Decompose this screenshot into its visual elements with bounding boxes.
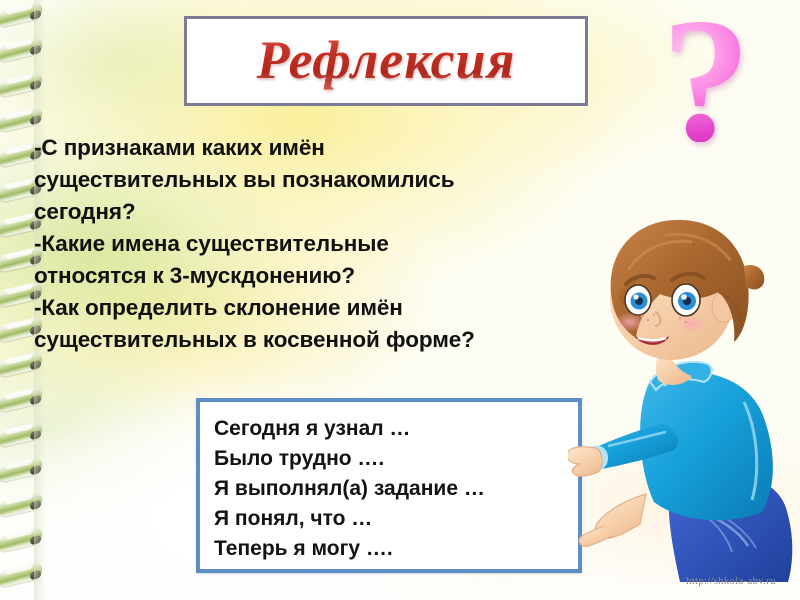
question-line: существительных в косвенной форме?: [34, 324, 582, 356]
slide-canvas: Рефлексия ? -С признаками каких имён сущ…: [0, 0, 800, 600]
questions-block: -С признаками каких имён существительных…: [34, 132, 582, 356]
sentence-starters-list: Сегодня я узнал … Было трудно …. Я выпол…: [200, 402, 578, 564]
title-box: Рефлексия: [184, 16, 588, 106]
list-item: Я понял, что …: [214, 504, 578, 534]
question-line: -Как определить склонение имён: [34, 292, 582, 324]
watermark: http://shkola-abv.ru: [686, 575, 776, 587]
list-item: Было трудно ….: [214, 444, 578, 474]
cartoon-boy-pointing: [568, 196, 800, 582]
question-mark-icon: ?: [640, 18, 772, 158]
question-line: существительных вы познакомились: [34, 164, 582, 196]
question-line: относятся к 3-мускдонению?: [34, 260, 582, 292]
question-line: сегодня?: [34, 196, 582, 228]
page-title: Рефлексия: [187, 29, 585, 91]
question-mark-glyph: ?: [640, 18, 772, 142]
question-line: -С признаками каких имён: [34, 132, 582, 164]
list-item: Я выполнял(а) задание …: [214, 474, 578, 504]
list-item: Теперь я могу ….: [214, 534, 578, 564]
question-line: -Какие имена существительные: [34, 228, 582, 260]
sentence-starters-box: Сегодня я узнал … Было трудно …. Я выпол…: [196, 398, 582, 573]
list-item: Сегодня я узнал …: [214, 414, 578, 444]
